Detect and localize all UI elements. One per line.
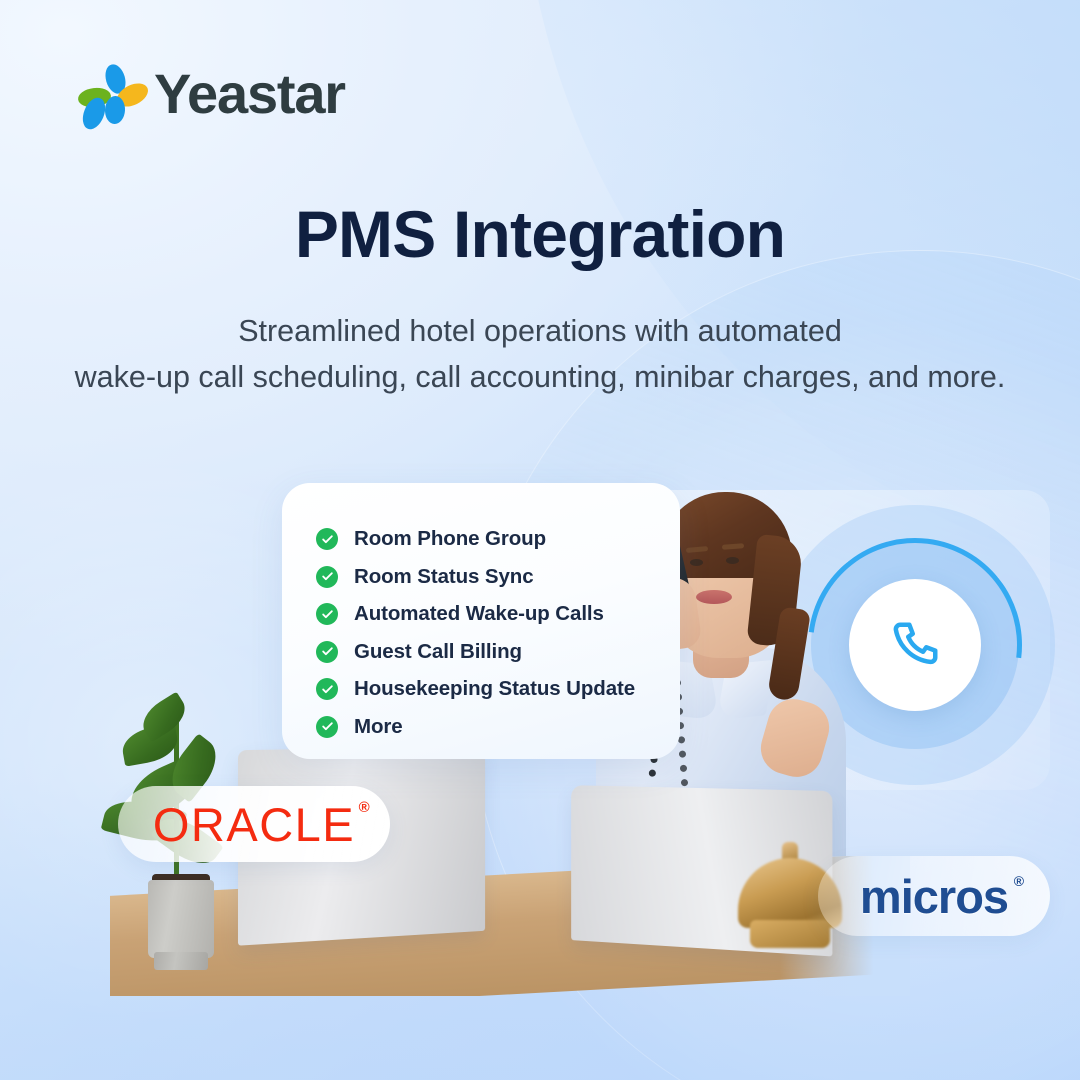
check-circle-icon <box>316 641 338 663</box>
list-item: Automated Wake-up Calls <box>316 602 680 626</box>
feature-list-card: Room Phone Group Room Status Sync Automa… <box>282 483 680 759</box>
micros-wordmark: micros <box>860 870 1008 923</box>
feature-label: Housekeeping Status Update <box>354 677 635 701</box>
subtitle-line-1: Streamlined hotel operations with automa… <box>40 308 1040 354</box>
micros-logo-icon: micros ® <box>860 869 1008 924</box>
check-circle-icon <box>316 678 338 700</box>
partner-badge-oracle: ORACLE ® <box>118 786 390 862</box>
check-circle-icon <box>316 566 338 588</box>
logo-petal-blue-middle <box>104 95 125 124</box>
feature-label: Automated Wake-up Calls <box>354 602 604 626</box>
registered-trademark-icon: ® <box>1014 873 1023 889</box>
plant-pot <box>148 880 214 958</box>
list-item: More <box>316 715 680 739</box>
check-circle-icon <box>316 528 338 550</box>
eye-right <box>726 557 739 564</box>
yeastar-petal-logo-icon <box>78 63 140 125</box>
page-subtitle: Streamlined hotel operations with automa… <box>40 308 1040 401</box>
feature-label: Guest Call Billing <box>354 640 522 664</box>
phone-handset-icon <box>888 618 942 672</box>
feature-label: Room Phone Group <box>354 527 546 551</box>
bell-base <box>750 920 830 948</box>
list-item: Room Phone Group <box>316 527 680 551</box>
oracle-wordmark: ORACLE <box>153 798 355 851</box>
eye-left <box>690 559 703 566</box>
oracle-logo-icon: ORACLE ® <box>153 797 355 852</box>
subtitle-line-2: wake-up call scheduling, call accounting… <box>40 354 1040 400</box>
feature-list: Room Phone Group Room Status Sync Automa… <box>316 527 680 739</box>
brand-logo: Yeastar <box>78 63 345 125</box>
feature-label: More <box>354 715 403 739</box>
brand-wordmark: Yeastar <box>154 66 345 122</box>
list-item: Guest Call Billing <box>316 640 680 664</box>
poster-canvas: Yeastar PMS Integration Streamlined hote… <box>0 0 1080 1080</box>
list-item: Housekeeping Status Update <box>316 677 680 701</box>
page-title: PMS Integration <box>0 196 1080 272</box>
list-item: Room Status Sync <box>316 565 680 589</box>
registered-trademark-icon: ® <box>359 799 372 816</box>
feature-label: Room Status Sync <box>354 565 534 589</box>
check-circle-icon <box>316 716 338 738</box>
mouth <box>696 590 732 604</box>
check-circle-icon <box>316 603 338 625</box>
partner-badge-micros: micros ® <box>818 856 1050 936</box>
